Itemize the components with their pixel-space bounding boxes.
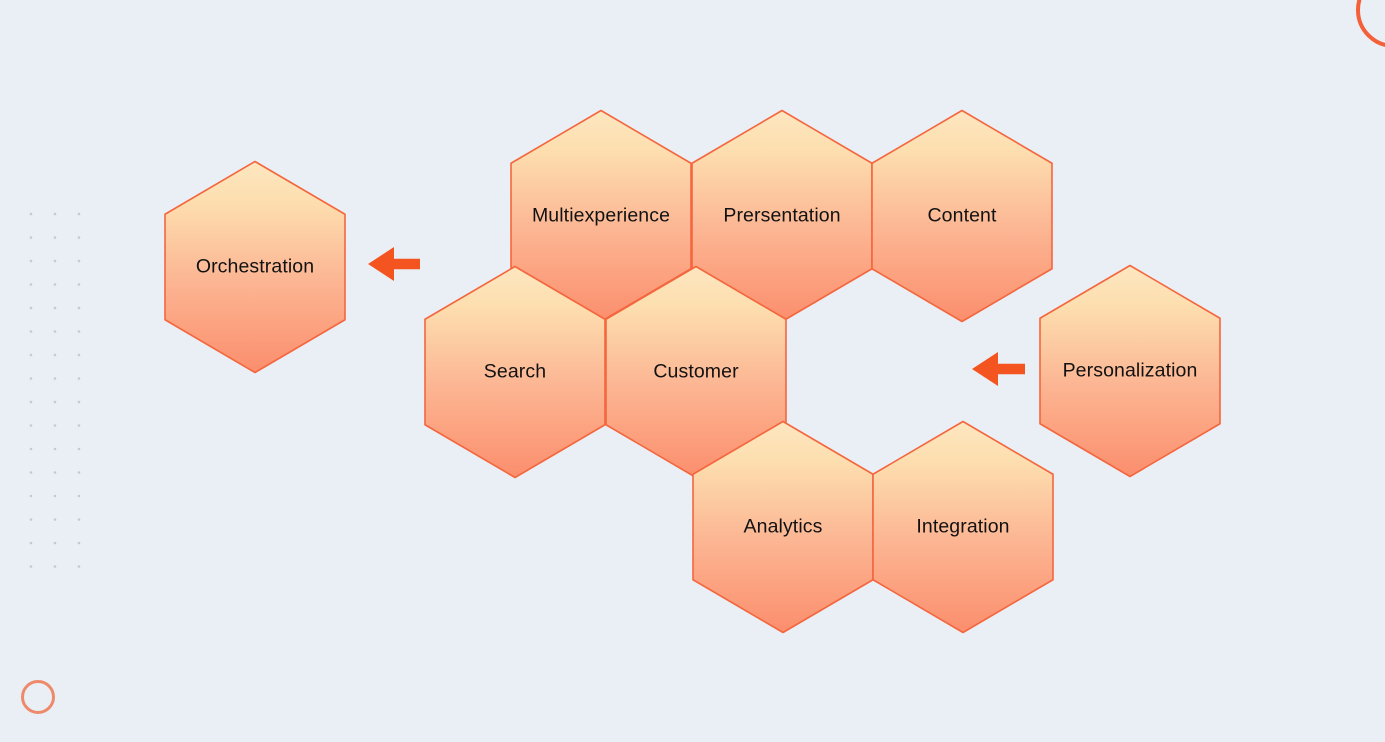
grid-dot [30, 330, 33, 333]
grid-dot [54, 330, 57, 333]
grid-dot [78, 283, 81, 286]
grid-dot [30, 448, 33, 451]
grid-dot [30, 495, 33, 498]
grid-dot [78, 495, 81, 498]
hex-label-content[interactable]: Content [928, 205, 997, 228]
grid-dot [78, 236, 81, 239]
dot-grid [30, 213, 81, 568]
grid-dot [54, 354, 57, 357]
grid-dot [30, 518, 33, 521]
circle-outline-decoration [23, 682, 54, 713]
grid-dot [30, 236, 33, 239]
grid-dot [30, 260, 33, 263]
grid-dot [30, 424, 33, 427]
hex-label-customer[interactable]: Customer [653, 361, 738, 384]
grid-dot [54, 518, 57, 521]
grid-dot [54, 565, 57, 568]
grid-dot [54, 401, 57, 404]
grid-dot [78, 260, 81, 263]
grid-dot [54, 260, 57, 263]
grid-dot [54, 377, 57, 380]
grid-dot [78, 424, 81, 427]
grid-dot [54, 424, 57, 427]
grid-dot [78, 471, 81, 474]
grid-dot [78, 377, 81, 380]
grid-dot [30, 471, 33, 474]
grid-dot [30, 565, 33, 568]
grid-dot [78, 307, 81, 310]
hex-label-prersentation[interactable]: Prersentation [723, 205, 840, 228]
grid-dot [30, 283, 33, 286]
grid-dot [54, 542, 57, 545]
grid-dot [78, 542, 81, 545]
grid-dot [54, 495, 57, 498]
grid-dot [30, 213, 33, 216]
hex-label-search[interactable]: Search [484, 361, 546, 384]
hex-label-personalization[interactable]: Personalization [1063, 360, 1198, 383]
grid-dot [78, 448, 81, 451]
grid-dot [78, 518, 81, 521]
grid-dot [30, 401, 33, 404]
grid-dot [54, 448, 57, 451]
hex-label-analytics[interactable]: Analytics [744, 516, 823, 539]
grid-dot [54, 213, 57, 216]
grid-dot [30, 377, 33, 380]
arrow-from-personalization [972, 352, 1025, 386]
grid-dot [78, 354, 81, 357]
grid-dot [78, 565, 81, 568]
grid-dot [30, 542, 33, 545]
grid-dot [78, 401, 81, 404]
grid-dot [30, 307, 33, 310]
grid-dot [78, 213, 81, 216]
hex-label-multiexperience[interactable]: Multiexperience [532, 205, 670, 228]
hex-label-integration[interactable]: Integration [916, 516, 1009, 539]
grid-dot [78, 330, 81, 333]
grid-dot [54, 283, 57, 286]
arrow-to-orchestration [368, 247, 420, 281]
grid-dot [30, 354, 33, 357]
hex-label-orchestration[interactable]: Orchestration [196, 256, 314, 279]
grid-dot [54, 471, 57, 474]
diagram-canvas: Multiexperience Prersentation Content Se… [0, 0, 1385, 742]
grid-dot [54, 307, 57, 310]
corner-arc-decoration [1358, 0, 1385, 46]
grid-dot [54, 236, 57, 239]
